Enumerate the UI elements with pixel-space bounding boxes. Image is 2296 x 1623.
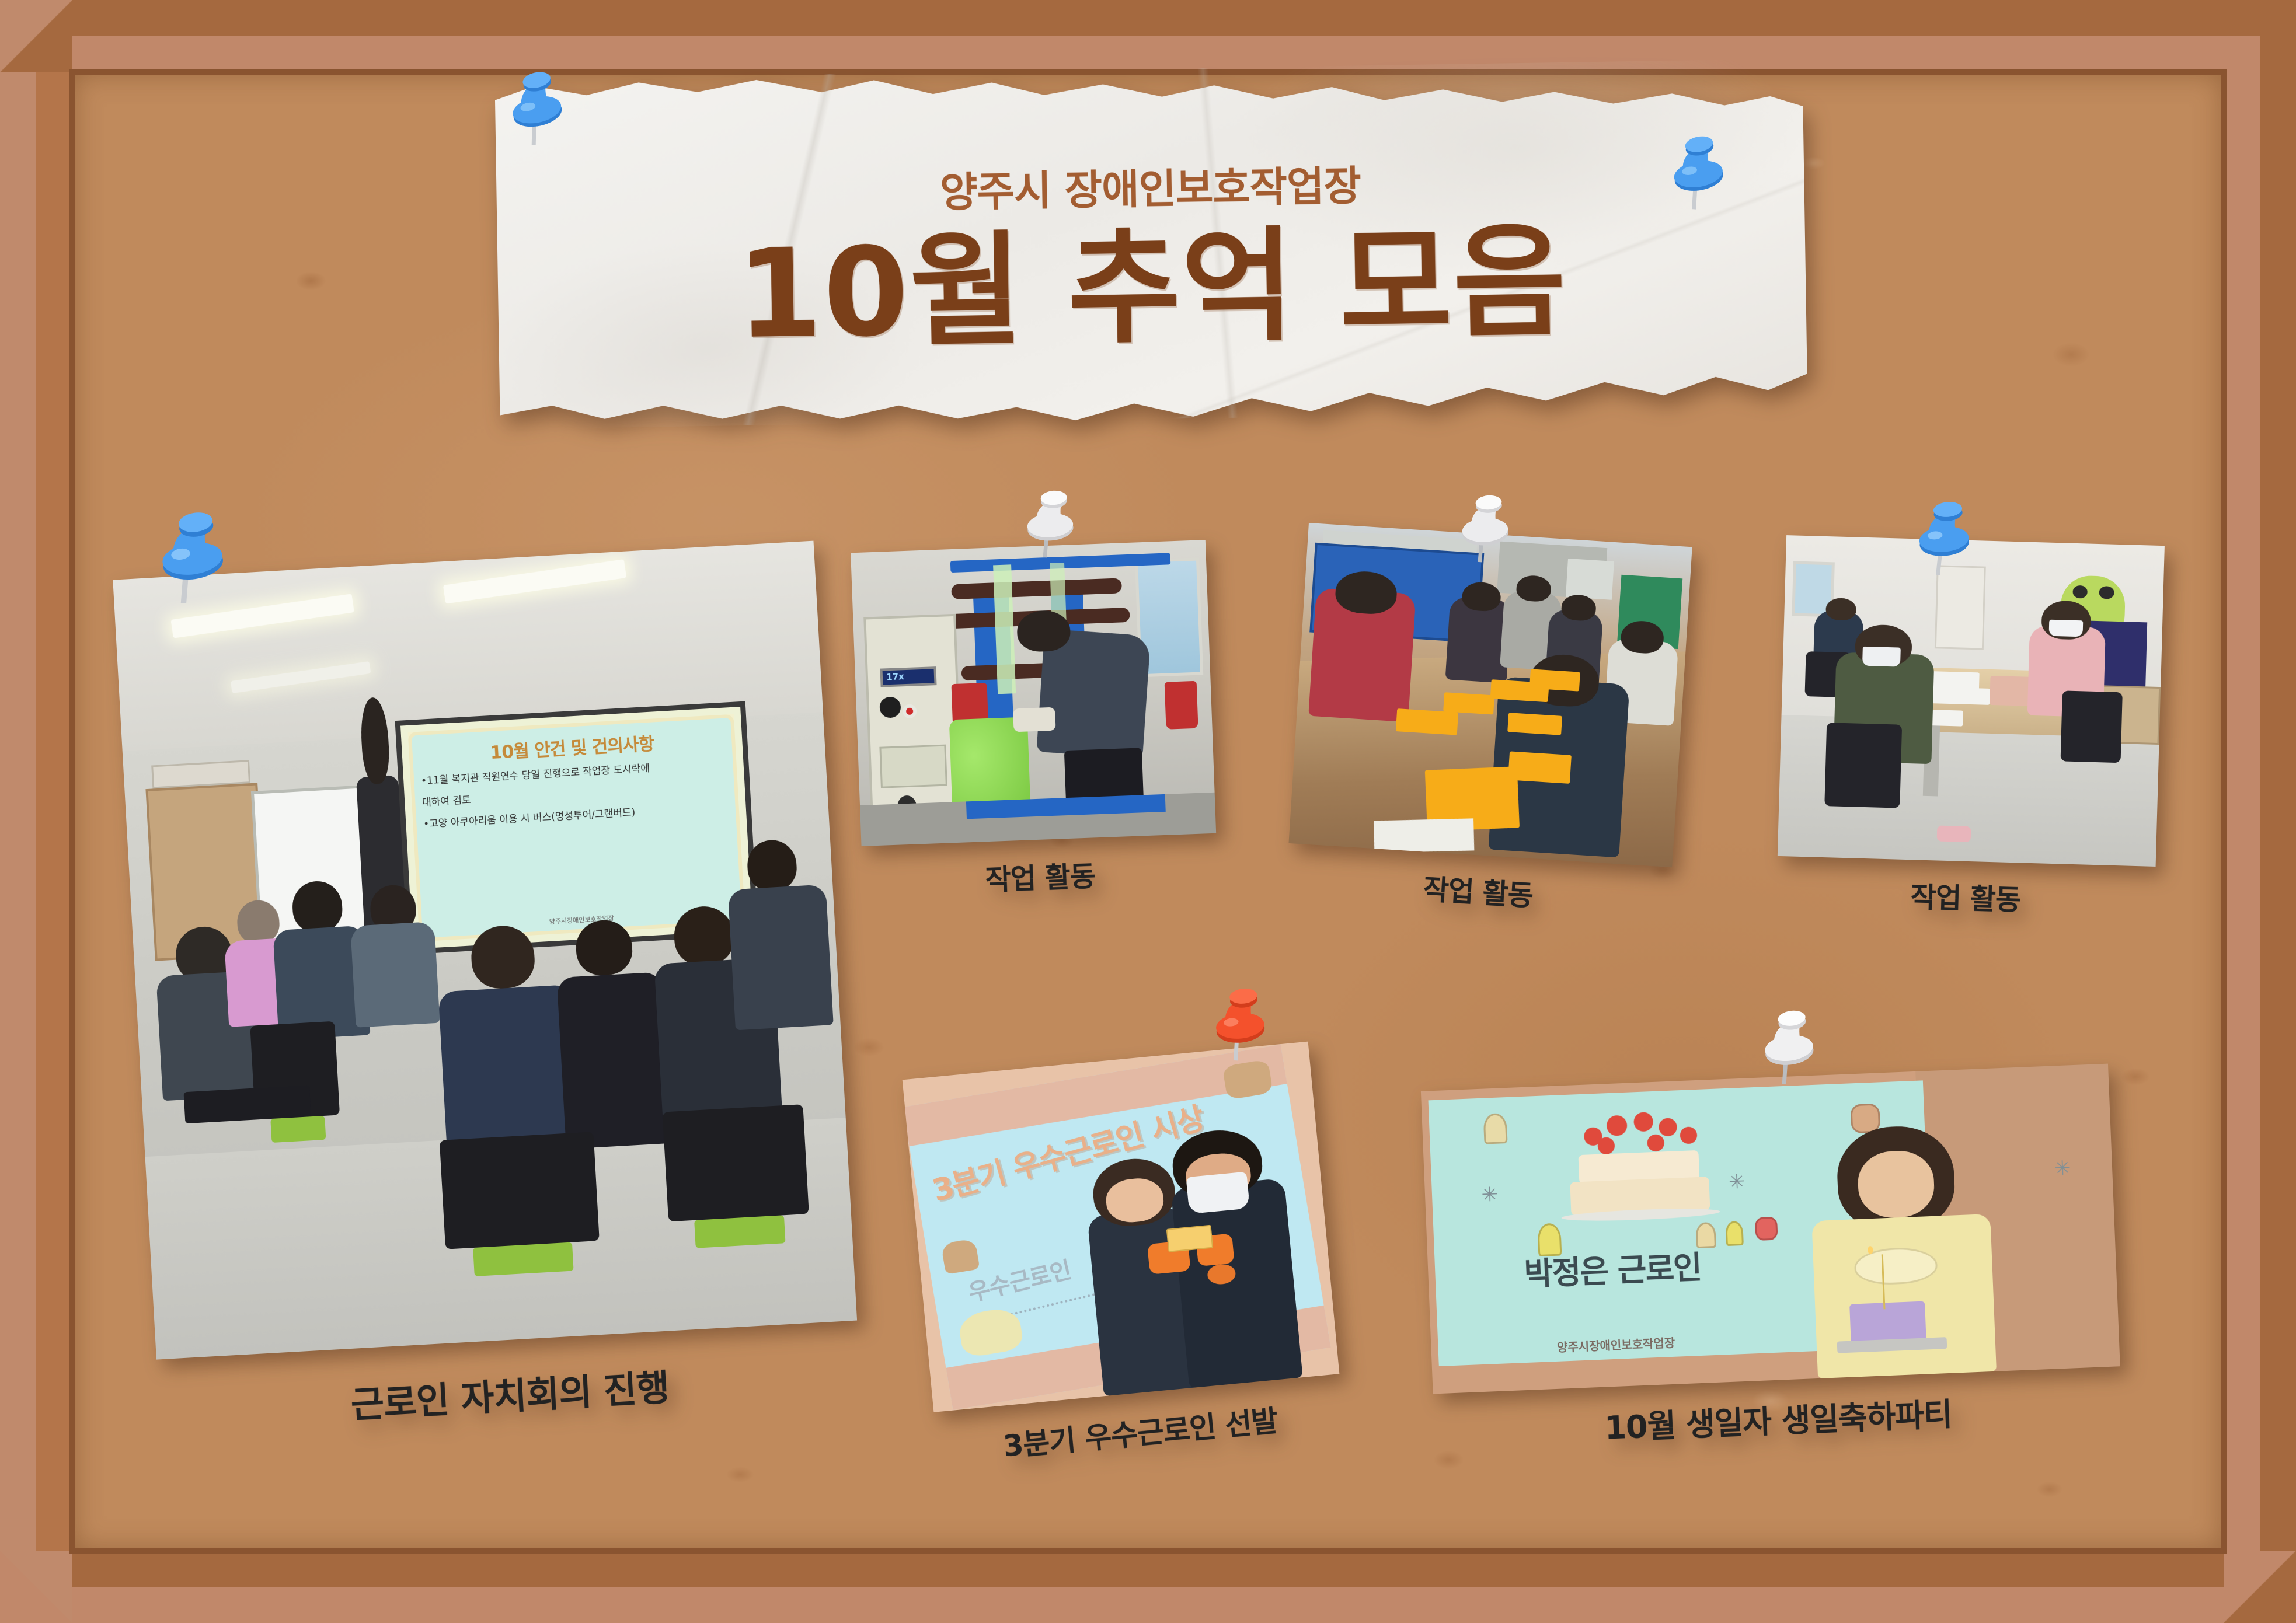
photo-image-meeting: 10월 안건 및 건의사항 •11월 복지관 직원연수 당일 진행으로 작업장 … — [113, 541, 857, 1360]
frame-corner-bottom-left — [0, 1551, 72, 1623]
slide-bullet-2: 대하여 검토 — [421, 793, 471, 811]
frame-inner-top — [36, 36, 2260, 71]
frame-corner-bottom-right — [2224, 1551, 2296, 1623]
photo-card-birthday[interactable]: ✳ ✳ 박정은 근로인 양주시장애인보호작업장 ✳ — [1387, 1029, 2157, 1491]
slide-bullet-1: •11월 복지관 직원연수 당일 진행으로 작업장 도시락에 — [420, 760, 650, 789]
photo-image-printing: 17x — [851, 540, 1216, 846]
frame-corner-top-left — [0, 0, 72, 72]
frame-edge-left — [0, 0, 36, 1623]
photo-image-bagfolding — [1288, 523, 1692, 867]
frame-edge-top — [0, 0, 2296, 36]
photo-card-packing[interactable]: 작업 활동 — [1743, 502, 2199, 958]
frame-inner-left — [36, 71, 71, 1552]
slide-name-birthday: 박정은 근로인 — [1523, 1241, 1702, 1294]
frame-edge-right — [2260, 0, 2296, 1623]
banner-subtitle: 양주시 장애인보호작업장 — [939, 153, 1361, 219]
photo-card-printing[interactable]: 17x — [817, 506, 1252, 938]
photo-image-award: 3분기 우수근로인 시상 우수근로인 — [903, 1042, 1340, 1412]
title-banner: 양주시 장애인보호작업장 10월 추억 모음 — [494, 58, 1807, 429]
slide-footer-birthday: 양주시장애인보호작업장 — [1556, 1334, 1675, 1355]
photo-card-bagfolding[interactable]: 작업 활동 — [1250, 488, 1727, 959]
photo-caption-packing: 작업 활동 — [1776, 856, 2155, 924]
photo-card-meeting[interactable]: 10월 안건 및 건의사항 •11월 복지관 직원연수 당일 진행으로 작업장 … — [74, 501, 901, 1489]
photo-image-packing — [1778, 535, 2165, 867]
frame-inner-bottom — [36, 1552, 2260, 1587]
slide-subheading-award: 우수근로인 — [964, 1251, 1074, 1308]
machine-lcd-value: 17x — [883, 669, 935, 683]
banner-title: 10월 추억 모음 — [736, 219, 1568, 358]
frame-inner-right — [2225, 71, 2260, 1552]
photo-card-award[interactable]: 3분기 우수근로인 시상 우수근로인 — [867, 1006, 1381, 1510]
slide-heading-meeting: 10월 안건 및 건의사항 — [489, 729, 654, 764]
cork-bulletin-board: 양주시 장애인보호작업장 10월 추억 모음 — [0, 0, 2296, 1623]
photo-image-birthday: ✳ ✳ 박정은 근로인 양주시장애인보호작업장 ✳ — [1421, 1064, 2120, 1394]
frame-edge-bottom — [0, 1587, 2296, 1623]
